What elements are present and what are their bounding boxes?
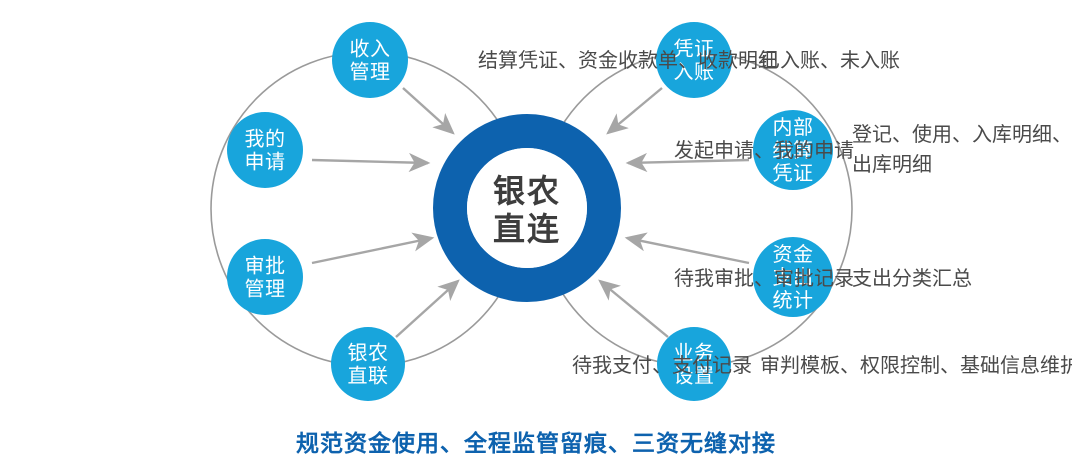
node-bank-direct-link[interactable]: 银农直联 [331,327,405,401]
label-line: 待我支付、支付记录 [572,351,752,381]
node-label-fund-expenditure-statistics: 资金 [773,243,814,266]
label-income-management-desc: 结算凭证、资金收款单、收款明细 [478,46,778,76]
label-line: 发起申请、我的申请 [674,136,854,166]
diagram-canvas: 银农直连 收入管理我的申请审批管理银农直联凭证入账内部结算凭证资金支出统计业务设… [0,0,1072,471]
center-title-line1: 银农 [493,173,561,209]
arrow-from-my-application [312,160,428,163]
arrow-from-fund-expenditure-statistics [627,238,749,263]
node-approval-management[interactable]: 审批管理 [227,239,303,315]
label-line: 支出分类汇总 [852,264,972,294]
node-label-approval-management: 审批 [245,255,286,278]
label-voucher-entry-desc: 已入账、未入账 [760,46,900,76]
node-income-management[interactable]: 收入管理 [332,22,408,98]
center-ring: 银农直连 [450,131,604,285]
node-label-my-application: 申请 [245,151,286,174]
label-line: 结算凭证、资金收款单、收款明细 [478,46,778,76]
label-line: 已入账、未入账 [760,46,900,76]
arrow-from-income-management [403,88,453,133]
label-business-settings-desc: 审判模板、权限控制、基础信息维护 [760,351,1072,381]
node-label-my-application: 我的 [245,128,286,151]
arrow-from-voucher-entry [608,88,662,133]
footer-caption: 规范资金使用、全程监管留痕、三资无缝对接 [0,424,1072,458]
center-title-line2: 直连 [493,211,561,247]
arrow-from-business-settings [600,281,668,337]
arrow-from-approval-management [312,238,432,263]
label-line: 登记、使用、入库明细、 [852,120,1072,150]
label-line: 审判模板、权限控制、基础信息维护 [760,351,1072,381]
label-fund-expenditure-statistics-desc: 支出分类汇总 [852,264,972,294]
label-internal-settlement-voucher-desc: 登记、使用、入库明细、出库明细 [852,120,1072,180]
label-my-application-desc: 发起申请、我的申请 [674,136,854,166]
node-label-income-management: 管理 [350,61,391,84]
node-label-income-management: 收入 [350,38,391,61]
label-line: 待我审批、审批记录 [674,264,854,294]
node-label-bank-direct-link: 直联 [348,365,389,388]
node-label-bank-direct-link: 银农 [348,342,389,365]
arrow-from-bank-direct-link [396,281,458,337]
label-approval-management-desc: 待我审批、审批记录 [674,264,854,294]
label-line: 出库明细 [852,150,1072,180]
node-label-approval-management: 管理 [245,278,286,301]
label-bank-direct-link-desc: 待我支付、支付记录 [572,351,752,381]
node-my-application[interactable]: 我的申请 [227,112,303,188]
